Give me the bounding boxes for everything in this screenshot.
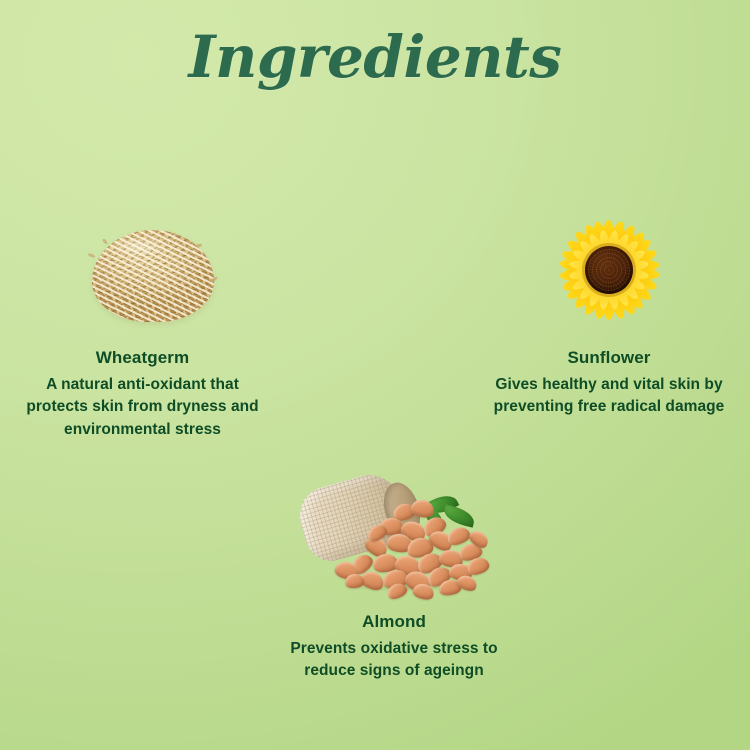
sunflower-image-wrap (468, 210, 750, 322)
ingredient-description-sunflower: Gives healthy and vital skin by preventi… (468, 374, 750, 419)
description-line: Prevents oxidative stress to (255, 638, 533, 660)
description-line: Gives healthy and vital skin by (468, 374, 750, 396)
wheatgerm-image-wrap (0, 210, 285, 322)
ingredient-name-sunflower: Sunflower (468, 348, 750, 368)
description-line: preventing free radical damage (468, 396, 750, 418)
page-title: Ingredients (0, 24, 750, 91)
almond-image-wrap (255, 458, 533, 596)
wheatgerm-caption: Wheatgerm A natural anti-oxidant that pr… (0, 348, 285, 441)
ingredients-poster: Ingredients Wheatgerm A natural anti-oxi… (0, 0, 750, 750)
ingredient-description-almond: Prevents oxidative stress to reduce sign… (255, 638, 533, 683)
wheatgerm-mound-shape (92, 230, 214, 322)
sunflower-caption: Sunflower Gives healthy and vital skin b… (468, 348, 750, 419)
ingredient-name-wheatgerm: Wheatgerm (0, 348, 285, 368)
ingredient-card-wheatgerm: Wheatgerm A natural anti-oxidant that pr… (0, 210, 285, 441)
description-line: protects skin from dryness and (0, 396, 285, 418)
description-line: A natural anti-oxidant that (0, 374, 285, 396)
almonds-spilling-from-burlap-sack-image (301, 470, 487, 596)
almond-caption: Almond Prevents oxidative stress to redu… (255, 612, 533, 683)
description-line: reduce signs of ageingn (255, 660, 533, 682)
wheatgerm-flakes-pile-image (92, 226, 214, 322)
ingredient-name-almond: Almond (255, 612, 533, 632)
sunflower-seed-disc (585, 246, 633, 294)
sunflower-bloom-image (557, 218, 661, 322)
ingredient-description-wheatgerm: A natural anti-oxidant that protects ski… (0, 374, 285, 441)
ingredient-card-sunflower: Sunflower Gives healthy and vital skin b… (468, 210, 750, 419)
almond-leaf (442, 504, 477, 527)
description-line: environmental stress (0, 419, 285, 441)
ingredient-card-almond: Almond Prevents oxidative stress to redu… (255, 458, 533, 683)
